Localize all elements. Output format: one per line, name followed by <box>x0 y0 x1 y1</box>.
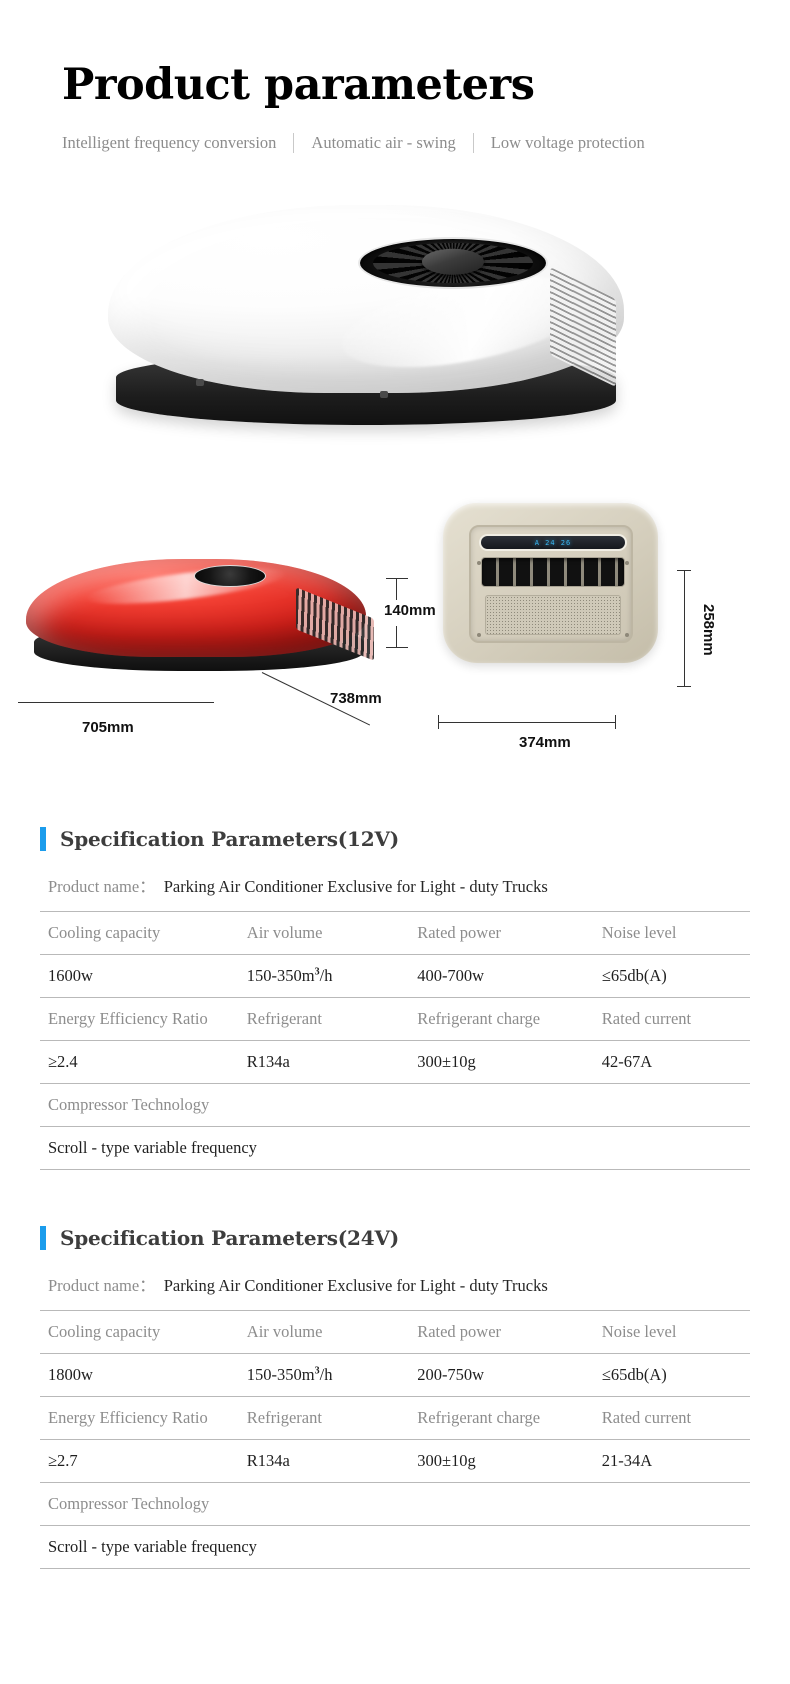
spec-heading-label: Specification Parameters(12V) <box>60 827 399 851</box>
air-volume-suffix: /h <box>320 966 333 985</box>
table-row: Scroll - type variable frequency <box>40 1127 750 1170</box>
air-volume-prefix: 150-350m <box>247 1365 315 1384</box>
dimension-line <box>396 626 397 648</box>
value-compressor-technology: Scroll - type variable frequency <box>40 1127 750 1170</box>
dimension-label-height: 140mm <box>384 602 436 619</box>
red-ac-unit-image <box>26 559 376 679</box>
header-rated-current: Rated current <box>594 998 750 1041</box>
panel-intake-grille <box>485 595 621 635</box>
spec-section-12v: Specification Parameters(12V) Product na… <box>0 827 790 1170</box>
product-name-row: Product name： Parking Air Conditioner Ex… <box>40 873 750 911</box>
header-energy-efficiency-ratio: Energy Efficiency Ratio <box>40 1397 239 1440</box>
value-compressor-technology: Scroll - type variable frequency <box>40 1526 750 1569</box>
product-name-label: Product name： <box>48 873 156 897</box>
spec-heading-24v: Specification Parameters(24V) <box>40 1226 750 1250</box>
feature-item-2: Automatic air - swing <box>311 133 455 153</box>
screw <box>477 633 481 637</box>
header-refrigerant: Refrigerant <box>239 998 409 1041</box>
value-noise-level: ≤65db(A) <box>594 955 750 998</box>
header-air-volume: Air volume <box>239 912 409 955</box>
product-name-row: Product name： Parking Air Conditioner Ex… <box>40 1272 750 1310</box>
value-refrigerant-charge: 300±10g <box>409 1041 594 1084</box>
product-name-value: Parking Air Conditioner Exclusive for Li… <box>164 877 548 897</box>
dimension-label-depth: 738mm <box>330 690 382 707</box>
air-volume-prefix: 150-350m <box>247 966 315 985</box>
hero-image-area <box>0 187 790 467</box>
page-header: Product parameters Intelligent frequency… <box>0 0 790 153</box>
header-rated-current: Rated current <box>594 1397 750 1440</box>
air-volume-suffix: /h <box>320 1365 333 1384</box>
spec-heading-12v: Specification Parameters(12V) <box>40 827 750 851</box>
screw <box>380 391 388 398</box>
screw <box>196 379 204 386</box>
table-row: Energy Efficiency Ratio Refrigerant Refr… <box>40 998 750 1041</box>
value-rated-power: 400-700w <box>409 955 594 998</box>
header-compressor-technology: Compressor Technology <box>40 1483 750 1526</box>
fan-grille-icon <box>358 237 548 289</box>
header-noise-level: Noise level <box>594 912 750 955</box>
feature-separator <box>473 133 474 153</box>
panel-display: A 24 26 <box>479 534 627 551</box>
dimension-label-panel-width: 374mm <box>519 734 571 751</box>
header-energy-efficiency-ratio: Energy Efficiency Ratio <box>40 998 239 1041</box>
table-row: Compressor Technology <box>40 1084 750 1127</box>
header-air-volume: Air volume <box>239 1311 409 1354</box>
table-row: 1600w 150-350m3/h 400-700w ≤65db(A) <box>40 955 750 998</box>
value-refrigerant: R134a <box>239 1041 409 1084</box>
spec-section-24v: Specification Parameters(24V) Product na… <box>0 1226 790 1569</box>
panel-louver-vents <box>481 557 625 587</box>
feature-list: Intelligent frequency conversion Automat… <box>62 133 790 153</box>
panel-inner-frame: A 24 26 <box>469 525 633 643</box>
dimension-tick <box>677 686 691 687</box>
header-rated-power: Rated power <box>409 1311 594 1354</box>
white-ac-unit-image <box>108 195 628 435</box>
value-energy-efficiency-ratio: ≥2.7 <box>40 1440 239 1483</box>
spec-table-24v: Cooling capacity Air volume Rated power … <box>40 1310 750 1569</box>
value-rated-current: 21-34A <box>594 1440 750 1483</box>
table-row: Cooling capacity Air volume Rated power … <box>40 1311 750 1354</box>
value-cooling-capacity: 1800w <box>40 1354 239 1397</box>
spec-heading-label: Specification Parameters(24V) <box>60 1226 399 1250</box>
value-noise-level: ≤65db(A) <box>594 1354 750 1397</box>
feature-item-3: Low voltage protection <box>491 133 645 153</box>
value-cooling-capacity: 1600w <box>40 955 239 998</box>
dimension-line <box>684 570 685 686</box>
table-row: 1800w 150-350m3/h 200-750w ≤65db(A) <box>40 1354 750 1397</box>
header-rated-power: Rated power <box>409 912 594 955</box>
page-title: Product parameters <box>62 62 790 109</box>
dimension-tick <box>386 647 408 648</box>
header-refrigerant: Refrigerant <box>239 1397 409 1440</box>
screw <box>625 633 629 637</box>
table-row: Energy Efficiency Ratio Refrigerant Refr… <box>40 1397 750 1440</box>
header-noise-level: Noise level <box>594 1311 750 1354</box>
value-energy-efficiency-ratio: ≥2.4 <box>40 1041 239 1084</box>
dimension-tick <box>615 715 616 729</box>
table-row: ≥2.4 R134a 300±10g 42-67A <box>40 1041 750 1084</box>
header-cooling-capacity: Cooling capacity <box>40 1311 239 1354</box>
panel-body: A 24 26 <box>443 503 658 663</box>
value-refrigerant-charge: 300±10g <box>409 1440 594 1483</box>
accent-bar-icon <box>40 827 46 851</box>
header-refrigerant-charge: Refrigerant charge <box>409 1397 594 1440</box>
table-row: Scroll - type variable frequency <box>40 1526 750 1569</box>
value-air-volume: 150-350m3/h <box>239 955 409 998</box>
dimension-label-panel-height: 258mm <box>700 604 717 656</box>
table-row: Compressor Technology <box>40 1483 750 1526</box>
dimension-line <box>438 722 616 723</box>
header-compressor-technology: Compressor Technology <box>40 1084 750 1127</box>
accent-bar-icon <box>40 1226 46 1250</box>
value-rated-current: 42-67A <box>594 1041 750 1084</box>
product-name-label: Product name： <box>48 1272 156 1296</box>
dimension-tick <box>438 715 439 729</box>
value-rated-power: 200-750w <box>409 1354 594 1397</box>
product-name-value: Parking Air Conditioner Exclusive for Li… <box>164 1276 548 1296</box>
table-row: Cooling capacity Air volume Rated power … <box>40 912 750 955</box>
spec-table-12v: Cooling capacity Air volume Rated power … <box>40 911 750 1170</box>
value-air-volume: 150-350m3/h <box>239 1354 409 1397</box>
value-refrigerant: R134a <box>239 1440 409 1483</box>
interior-panel-image: A 24 26 <box>443 503 658 695</box>
header-cooling-capacity: Cooling capacity <box>40 912 239 955</box>
header-refrigerant-charge: Refrigerant charge <box>409 998 594 1041</box>
dimension-tick <box>386 578 408 579</box>
dimension-tick <box>677 570 691 571</box>
screw <box>625 561 629 565</box>
dimension-line <box>18 702 214 703</box>
table-row: ≥2.7 R134a 300±10g 21-34A <box>40 1440 750 1483</box>
dimension-line <box>396 578 397 600</box>
feature-separator <box>293 133 294 153</box>
feature-item-1: Intelligent frequency conversion <box>62 133 276 153</box>
fan-hub <box>422 249 484 275</box>
dimension-label-width: 705mm <box>82 719 134 736</box>
